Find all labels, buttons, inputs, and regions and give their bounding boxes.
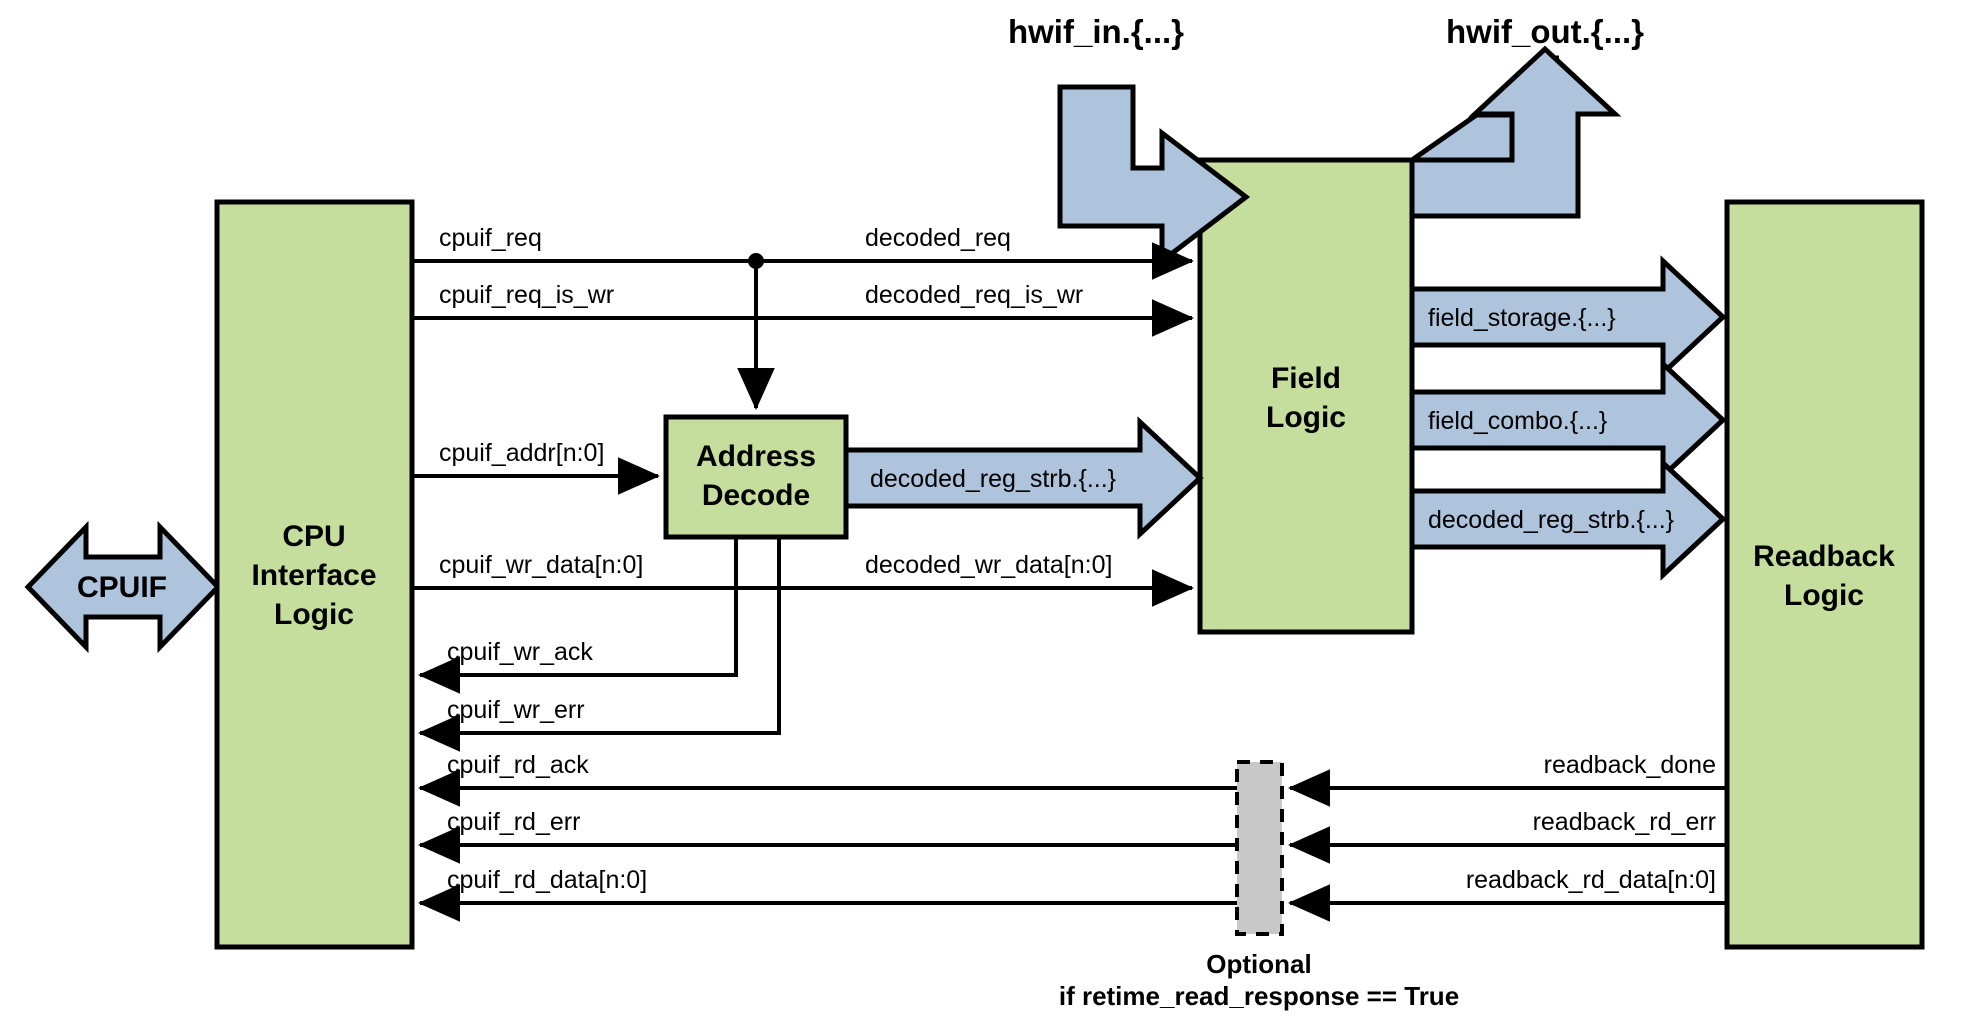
readback-rd-data-label: readback_rd_data[n:0] (1466, 866, 1716, 894)
cpu-interface-logic-title-line2: Interface (251, 559, 376, 592)
cpuif-wr-ack-label: cpuif_wr_ack (447, 638, 593, 666)
field-combo-label: field_combo.{...} (1428, 407, 1607, 435)
field-storage-label: field_storage.{...} (1428, 304, 1616, 332)
address-decode-block[interactable]: Address Decode (666, 417, 846, 537)
field-logic-rect[interactable] (1200, 160, 1412, 632)
readback-logic-block[interactable]: Readback Logic (1727, 202, 1922, 947)
retime-caption-line2: if retime_read_response == True (1059, 981, 1459, 1011)
readback-rd-err-label: readback_rd_err (1533, 808, 1716, 836)
decoded-reg-strb-readback-label: decoded_reg_strb.{...} (1428, 506, 1674, 534)
cpuif-req-is-wr-label: cpuif_req_is_wr (439, 281, 614, 309)
readback-logic-rect[interactable] (1727, 202, 1922, 947)
cpuif-wr-err-label: cpuif_wr_err (447, 696, 585, 724)
cpuif-wr-data-label: cpuif_wr_data[n:0] (439, 551, 643, 579)
retime-caption-line1: Optional (1206, 949, 1311, 979)
cpu-interface-logic-block[interactable]: CPU Interface Logic (217, 202, 412, 947)
field-logic-title-line2: Logic (1266, 401, 1346, 434)
block-diagram: CPUIF CPU Interface Logic Address Decode… (0, 0, 1972, 1022)
address-decode-rect[interactable] (666, 417, 846, 537)
address-decode-title-line1: Address (696, 440, 816, 473)
readback-done-label: readback_done (1544, 751, 1716, 779)
cpuif-rd-err-label: cpuif_rd_err (447, 808, 580, 836)
cpu-interface-logic-title-line1: CPU (282, 520, 345, 553)
cpu-interface-logic-title-line3: Logic (274, 598, 354, 631)
hwif-in-label: hwif_in.{...} (1008, 13, 1184, 50)
decoded-reg-strb-field-label: decoded_reg_strb.{...} (870, 465, 1116, 493)
cpuif-req-label: cpuif_req (439, 224, 542, 252)
readback-logic-title-line2: Logic (1784, 579, 1864, 612)
decoded-req-is-wr-label: decoded_req_is_wr (865, 281, 1083, 309)
decoded-wr-data-label: decoded_wr_data[n:0] (865, 551, 1112, 579)
field-logic-block[interactable]: Field Logic (1200, 160, 1412, 632)
cpuif-label: CPUIF (77, 571, 167, 604)
hwif-out-label: hwif_out.{...} (1446, 13, 1644, 50)
cpuif-addr-label: cpuif_addr[n:0] (439, 439, 604, 467)
cpuif-rd-data-label: cpuif_rd_data[n:0] (447, 866, 647, 894)
field-logic-title-line1: Field (1271, 362, 1341, 395)
retime-rect[interactable] (1237, 762, 1282, 934)
decoded-req-label: decoded_req (865, 224, 1011, 252)
readback-logic-title-line1: Readback (1753, 540, 1895, 573)
cpuif-rd-ack-label: cpuif_rd_ack (447, 751, 589, 779)
address-decode-title-line2: Decode (702, 479, 810, 512)
